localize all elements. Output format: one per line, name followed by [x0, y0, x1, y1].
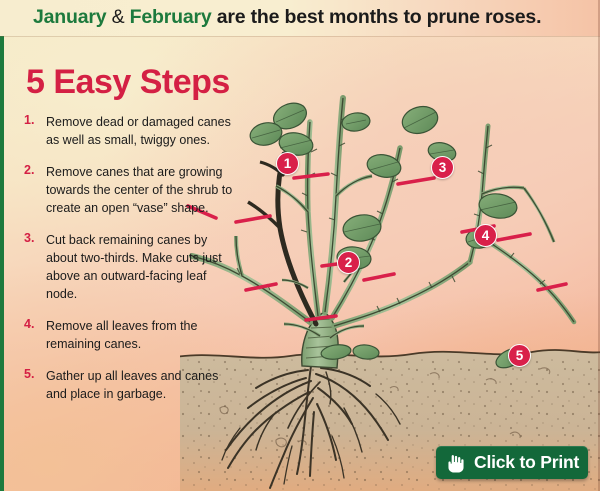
cut-marks: [188, 174, 566, 320]
marker-5: 5: [508, 344, 531, 367]
header-headline: January & February are the best months t…: [33, 6, 593, 29]
step-text: Remove dead or damaged canes as well as …: [46, 115, 231, 147]
rose-bush-illustration: [180, 36, 600, 491]
step-number: 1.: [24, 113, 34, 127]
page-title: 5 Easy Steps: [26, 63, 230, 102]
ampersand: &: [112, 6, 125, 28]
step-number: 2.: [24, 163, 34, 177]
step-number: 4.: [24, 317, 34, 331]
list-item: 4. Remove all leaves from the remaining …: [24, 317, 236, 353]
pointing-hand-icon: [445, 451, 467, 475]
step-number: 5.: [24, 367, 34, 381]
month-february: February: [130, 6, 212, 28]
step-number: 3.: [24, 231, 34, 245]
header-divider: [0, 36, 600, 37]
marker-4: 4: [474, 224, 497, 247]
click-to-print-button[interactable]: Click to Print: [436, 446, 588, 479]
month-january: January: [33, 6, 106, 28]
header-rest: are the best months to prune roses.: [212, 6, 542, 28]
left-green-rule: [0, 0, 4, 491]
list-item: 5. Gather up all leaves and canes and pl…: [24, 367, 236, 403]
list-item: 3. Cut back remaining canes by about two…: [24, 231, 236, 303]
step-text: Cut back remaining canes by about two-th…: [46, 233, 222, 301]
steps-list: 1. Remove dead or damaged canes as well …: [24, 113, 236, 417]
infographic-poster: 1 2 3 4 5 January & February are the bes…: [0, 0, 600, 491]
step-text: Gather up all leaves and canes and place…: [46, 369, 218, 401]
marker-3: 3: [431, 156, 454, 179]
step-text: Remove all leaves from the remaining can…: [46, 319, 197, 351]
marker-2: 2: [337, 251, 360, 274]
list-item: 1. Remove dead or damaged canes as well …: [24, 113, 236, 149]
print-button-label: Click to Print: [474, 452, 579, 473]
marker-1: 1: [276, 152, 299, 175]
header-band: January & February are the best months t…: [0, 0, 600, 36]
list-item: 2. Remove canes that are growing towards…: [24, 163, 236, 217]
step-text: Remove canes that are growing towards th…: [46, 165, 232, 215]
